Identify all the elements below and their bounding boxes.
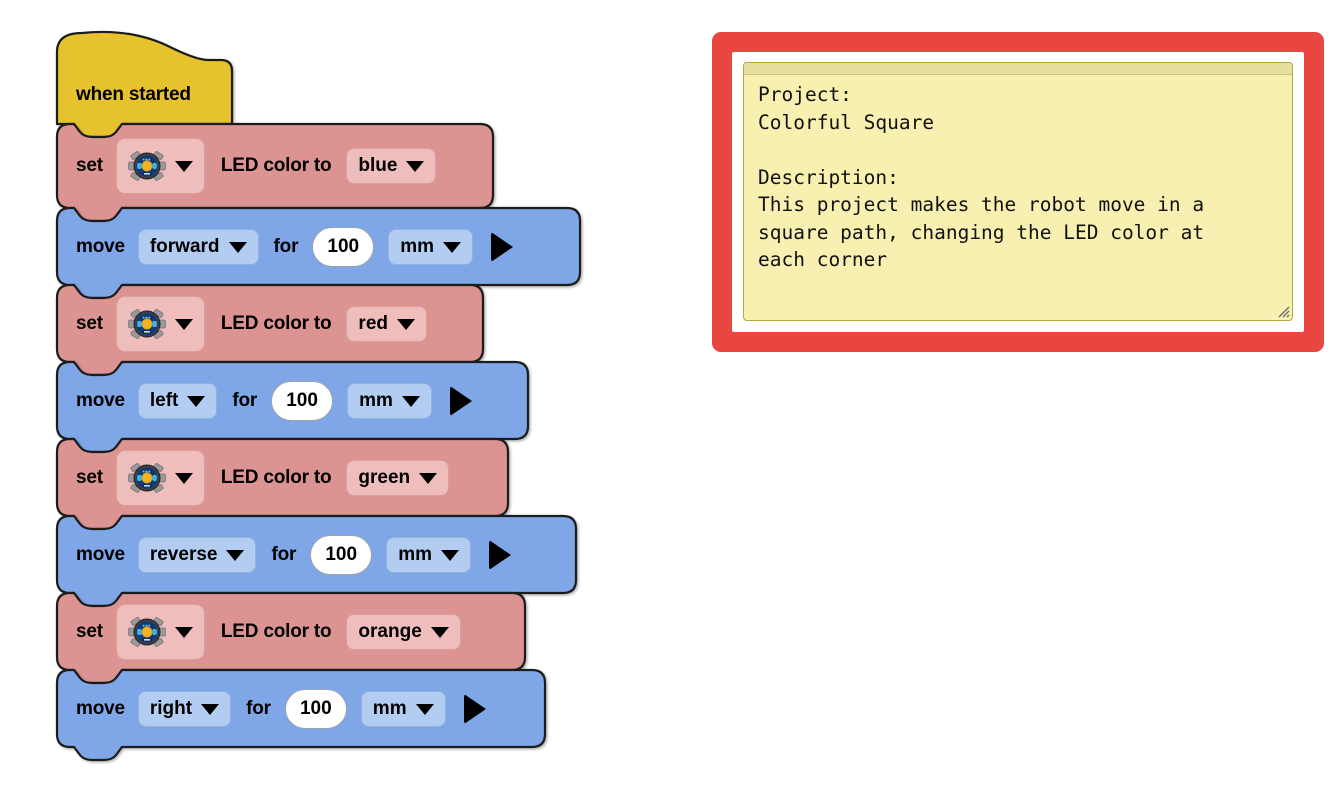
units-dropdown[interactable]: mm	[347, 383, 432, 419]
units-dropdown[interactable]: mm	[388, 229, 473, 265]
units-caret[interactable]	[402, 396, 420, 407]
led-color-caret[interactable]	[406, 161, 424, 172]
project-notes-panel: Project: Colorful Square Description: Th…	[712, 32, 1324, 352]
direction-caret[interactable]	[226, 550, 244, 561]
project-notes-text[interactable]: Project: Colorful Square Description: Th…	[744, 63, 1292, 298]
play-triangle-icon[interactable]	[489, 540, 511, 570]
play-triangle-icon[interactable]	[491, 232, 513, 262]
led-color-value: green	[358, 467, 410, 489]
for-label: for	[274, 236, 299, 258]
device-dropdown-caret[interactable]	[175, 161, 193, 172]
units-caret[interactable]	[416, 704, 434, 715]
device-dropdown[interactable]	[116, 604, 205, 660]
device-dropdown[interactable]	[116, 296, 205, 352]
led-color-dropdown[interactable]: green	[346, 460, 449, 496]
for-label: for	[271, 544, 296, 566]
led-color-dropdown[interactable]: red	[346, 306, 427, 342]
direction-value: reverse	[150, 544, 218, 566]
units-value: mm	[398, 544, 432, 566]
move-label: move	[76, 390, 125, 412]
led-color-caret[interactable]	[419, 473, 437, 484]
units-dropdown[interactable]: mm	[361, 691, 446, 727]
device-dropdown[interactable]	[116, 450, 205, 506]
for-label: for	[246, 698, 271, 720]
device-dropdown[interactable]	[116, 138, 205, 194]
move-label: move	[76, 698, 125, 720]
play-triangle-icon[interactable]	[464, 694, 486, 724]
set-label: set	[76, 155, 103, 177]
led-color-to-label: LED color to	[221, 621, 332, 643]
set-label: set	[76, 467, 103, 489]
direction-value: left	[150, 390, 179, 412]
units-caret[interactable]	[441, 550, 459, 561]
play-triangle-icon[interactable]	[450, 386, 472, 416]
resize-grip-icon[interactable]	[1276, 304, 1290, 318]
robot-brain-icon	[128, 459, 166, 497]
for-label: for	[232, 390, 257, 412]
distance-value: 100	[286, 390, 318, 412]
when-started-label: when started	[76, 84, 191, 106]
direction-caret[interactable]	[229, 242, 247, 253]
distance-input[interactable]: 100	[285, 689, 347, 729]
led-color-value: red	[358, 313, 388, 335]
robot-brain-icon	[128, 613, 166, 651]
led-color-value: orange	[358, 621, 421, 643]
set-label: set	[76, 621, 103, 643]
direction-dropdown[interactable]: reverse	[138, 537, 257, 573]
robot-brain-icon	[128, 305, 166, 343]
direction-dropdown[interactable]: right	[138, 691, 231, 727]
distance-value: 100	[327, 236, 359, 258]
direction-dropdown[interactable]: left	[138, 383, 218, 419]
distance-input[interactable]: 100	[312, 227, 374, 267]
project-notes-inner-frame: Project: Colorful Square Description: Th…	[732, 52, 1304, 332]
blockly-workspace[interactable]: when started set	[0, 0, 666, 794]
led-color-to-label: LED color to	[221, 155, 332, 177]
units-value: mm	[373, 698, 407, 720]
direction-caret[interactable]	[187, 396, 205, 407]
units-value: mm	[359, 390, 393, 412]
distance-value: 100	[325, 544, 357, 566]
led-color-caret[interactable]	[397, 319, 415, 330]
led-color-caret[interactable]	[431, 627, 449, 638]
led-color-to-label: LED color to	[221, 313, 332, 335]
distance-input[interactable]: 100	[310, 535, 372, 575]
move-label: move	[76, 236, 125, 258]
device-dropdown-caret[interactable]	[175, 627, 193, 638]
direction-value: right	[150, 698, 192, 720]
units-dropdown[interactable]: mm	[386, 537, 471, 573]
led-color-value: blue	[358, 155, 397, 177]
robot-brain-icon	[128, 147, 166, 185]
device-dropdown-caret[interactable]	[175, 319, 193, 330]
distance-value: 100	[300, 698, 332, 720]
project-notes-textarea[interactable]: Project: Colorful Square Description: Th…	[743, 62, 1293, 321]
units-value: mm	[400, 236, 434, 258]
distance-input[interactable]: 100	[271, 381, 333, 421]
direction-caret[interactable]	[201, 704, 219, 715]
direction-value: forward	[150, 236, 220, 258]
led-color-dropdown[interactable]: blue	[346, 148, 436, 184]
units-caret[interactable]	[443, 242, 461, 253]
led-color-dropdown[interactable]: orange	[346, 614, 460, 650]
device-dropdown-caret[interactable]	[175, 473, 193, 484]
direction-dropdown[interactable]: forward	[138, 229, 259, 265]
move-label: move	[76, 544, 125, 566]
set-label: set	[76, 313, 103, 335]
led-color-to-label: LED color to	[221, 467, 332, 489]
